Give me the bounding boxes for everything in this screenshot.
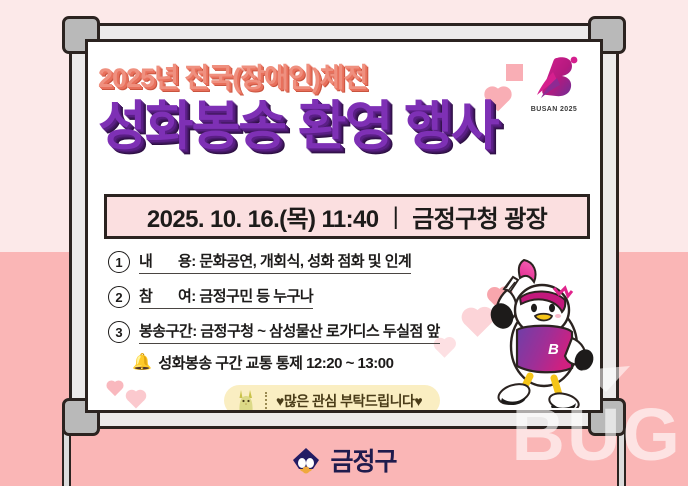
heart-decoration-icon	[128, 392, 145, 409]
list-number-badge: 1	[108, 251, 130, 273]
busan-wordmark: BUSAN 2025	[522, 106, 586, 113]
attention-badge: ♥많은 관심 부탁드립니다♥	[224, 385, 440, 413]
torch-bearer-seagull-mascot: B	[480, 258, 598, 408]
geumjeong-gu-emblem	[291, 445, 321, 475]
busan-2025-logo: BUSAN 2025	[522, 54, 586, 113]
attention-badge-text: ♥많은 관심 부탁드립니다♥	[276, 391, 422, 411]
bell-icon: 🔔	[132, 355, 151, 371]
traffic-notice-text: 성화봉송 구간 교통 통제 12:20 ~ 13:00	[158, 352, 393, 373]
poster-sheet: 2025년 전국(장애인)체전 성화봉송 환영 행사	[85, 39, 603, 413]
list-number-badge: 2	[108, 286, 130, 308]
mascot-jersey-letter: B	[548, 341, 559, 358]
page-title: 성화봉송 환영 행사	[98, 99, 538, 155]
list-number-badge: 3	[108, 321, 130, 343]
poster-subtitle: 2025년 전국(장애인)체전	[98, 56, 538, 95]
date-venue-banner: 2025. 10. 16.(목) 11:40 | 금정구청 광장	[104, 194, 590, 239]
list-item-label: 봉송구간: 금정구청 ~ 삼성물산 로가디스 두실점 앞	[139, 320, 440, 344]
footer-organization-name: 금정구	[330, 442, 396, 478]
event-datetime: 2025. 10. 16.(목) 11:40	[147, 199, 379, 234]
badge-divider	[265, 392, 267, 409]
busan-b-icon	[527, 54, 581, 100]
footer: 금정구	[0, 442, 688, 478]
event-venue: 금정구청 광장	[412, 199, 547, 234]
signboard-frame: 2025년 전국(장애인)체전 성화봉송 환영 행사	[58, 12, 630, 440]
headline-block: 2025년 전국(장애인)체전 성화봉송 환영 행사	[98, 56, 538, 155]
traffic-notice: 🔔 성화봉송 구간 교통 통제 12:20 ~ 13:00	[132, 352, 393, 373]
rabbit-mascot-icon	[236, 388, 256, 414]
heart-decoration-icon	[108, 382, 122, 396]
heart-accent-icon	[506, 64, 523, 81]
banner-separator: |	[393, 203, 399, 231]
list-item-label: 내 용: 문화공연, 개회식, 성화 점화 및 인계	[139, 250, 411, 274]
event-poster: 2025년 전국(장애인)체전 성화봉송 환영 행사	[0, 0, 688, 486]
list-item-label: 참 여: 금정구민 등 누구나	[139, 285, 313, 309]
